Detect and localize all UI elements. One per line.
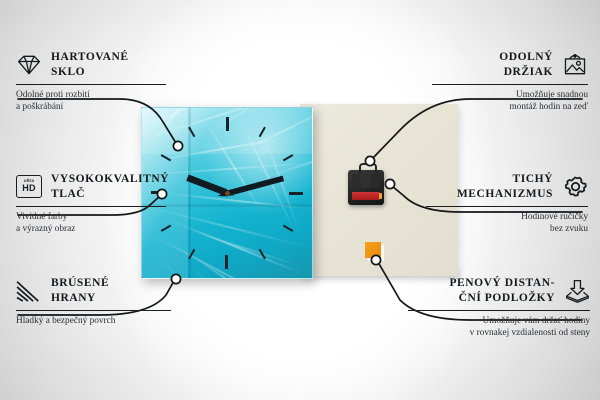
feature-desc-line1: Umožňuje vám držať hodiny: [483, 316, 591, 326]
feature-rule: [16, 310, 171, 311]
feature-rule: [16, 84, 166, 85]
feature-rule: [426, 206, 588, 207]
feature-desc-line2: a výrazný obraz: [16, 224, 75, 234]
ultra-hd-icon: ultra HD: [16, 175, 42, 199]
gear-icon: [562, 175, 588, 199]
feature-title-line1: VYSOKOKVALITNÝ: [51, 173, 169, 185]
feature-desc-line1: Vividné farby: [16, 212, 67, 222]
connector-dot-5: [385, 179, 394, 188]
connector-dot-4: [365, 156, 374, 165]
feature-desc-line1: Hodinové ručičky: [521, 212, 588, 222]
feature-rule: [408, 310, 590, 311]
feature-durable-hanger: ODOLNÝ DRŽIAK Umožňuje snadnou montáž ho…: [432, 50, 588, 114]
infographic-canvas: HARTOVANÉ SKLO Odolné proti rozbití a po…: [0, 0, 600, 400]
feature-title-line2: HRANY: [51, 292, 96, 304]
feature-desc-line2: v rovnakej vzdialenosti od steny: [470, 328, 590, 338]
feature-foam-spacers: PENOVÝ DISTAN- ČNÍ PODLOŽKY Umožňuje vám…: [408, 276, 590, 340]
connector-dot-1: [173, 141, 182, 150]
feature-title-line1: TICHÝ: [513, 173, 553, 185]
connector-dot-3: [171, 274, 180, 283]
feature-desc-line2: bez zvuku: [550, 224, 588, 234]
picture-hanger-icon: [562, 53, 588, 77]
feature-beveled-edges: BRÚSENÉ HRANY Hladký a bezpečný povrch: [16, 276, 171, 327]
feature-silent-mechanism: TICHÝ MECHANIZMUS Hodinové ručičky bez z…: [426, 172, 588, 236]
feature-title-line2: MECHANIZMUS: [457, 188, 553, 200]
feature-title-line2: SKLO: [51, 66, 85, 78]
beveled-edges-icon: [16, 279, 42, 303]
feature-tempered-glass: HARTOVANÉ SKLO Odolné proti rozbití a po…: [16, 50, 166, 114]
feature-desc-line2: montáž hodin na zeď: [509, 102, 588, 112]
feature-rule: [16, 206, 166, 207]
foam-spacer-icon: [564, 279, 590, 303]
diamond-icon: [16, 53, 42, 77]
feature-desc-line1: Odolné proti rozbití: [16, 90, 90, 100]
feature-title-line1: PENOVÝ DISTAN-: [449, 277, 555, 289]
feature-title-line1: HARTOVANÉ: [51, 51, 129, 63]
feature-title-line1: BRÚSENÉ: [51, 277, 109, 289]
feature-title-line1: ODOLNÝ: [499, 51, 553, 63]
connector-dot-6: [371, 255, 380, 264]
feature-rule: [432, 84, 588, 85]
feature-title-line2: ČNÍ PODLOŽKY: [459, 292, 555, 304]
feature-desc-line1: Umožňuje snadnou: [516, 90, 588, 100]
feature-high-quality-print: ultra HD VYSOKOKVALITNÝ TLAČ Vividné far…: [16, 172, 166, 236]
feature-title-line2: TLAČ: [51, 188, 85, 200]
feature-desc-line2: a poškrábání: [16, 102, 63, 112]
feature-desc-line1: Hladký a bezpečný povrch: [16, 316, 115, 326]
feature-title-line2: DRŽIAK: [504, 66, 553, 78]
ultra-hd-bottom: HD: [22, 184, 35, 193]
